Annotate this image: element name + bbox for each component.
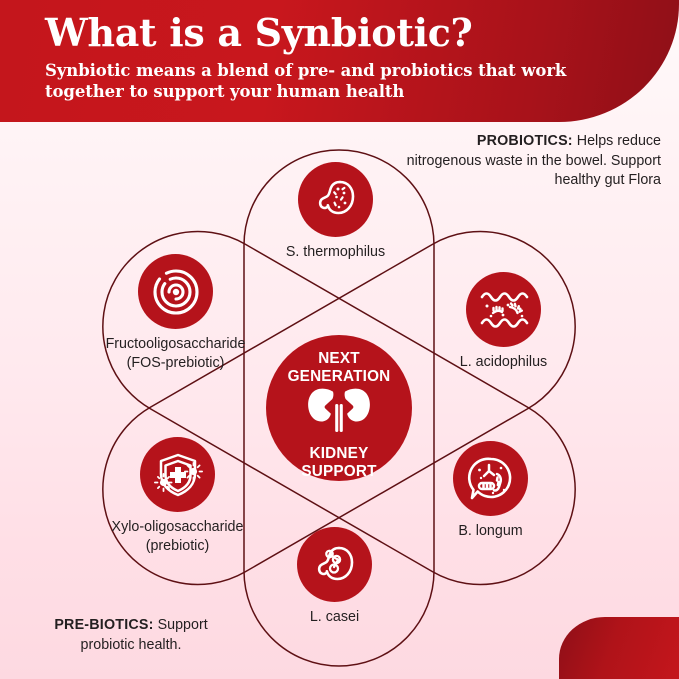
node-disc [297,527,372,602]
center-line-3: KIDNEY [301,445,376,463]
node-xylo-oligosaccharide[interactable]: Xylo-oligosaccharide (prebiotic) [140,437,215,512]
header-banner: What is a Synbiotic? Synbiotic means a b… [0,0,679,122]
node-s-thermophilus[interactable]: S. thermophilus [298,162,373,237]
node-fructooligosaccharide[interactable]: Fructooligosaccharide (FOS-prebiotic) [138,254,213,329]
node-disc [466,272,541,347]
node-disc [138,254,213,329]
center-line-4: SUPPORT [301,463,376,481]
prebiotics-caption-label: PRE-BIOTICS: [54,617,153,633]
center-line-2: GENERATION [288,368,391,386]
node-disc [298,162,373,237]
stomach-bacteria-icon [312,176,360,224]
node-label: Xylo-oligosaccharide (prebiotic) [112,518,244,556]
bubble-bacteria-icon [467,455,515,503]
center-line-1: NEXT [288,350,391,368]
infographic-page: What is a Synbiotic? Synbiotic means a b… [0,0,679,679]
node-b-longum[interactable]: B. longum [453,441,528,516]
page-subtitle: Synbiotic means a blend of pre- and prob… [45,60,605,102]
node-l-casei[interactable]: L. casei [297,527,372,602]
node-label-line2: (prebiotic) [112,537,244,556]
page-title: What is a Synbiotic? [45,10,473,55]
center-disc: NEXT GENERATION KIDNEY SUPPORT [266,335,412,481]
node-label-line2: (FOS-prebiotic) [106,354,246,373]
node-label: Fructooligosaccharide (FOS-prebiotic) [106,335,246,373]
prebiotics-caption: PRE-BIOTICS: Support probiotic health. [26,616,236,655]
node-label: B. longum [458,522,522,540]
node-l-acidophilus[interactable]: L. acidophilus [466,272,541,347]
kidney-icon [306,388,372,439]
node-label-line1: Xylo-oligosaccharide [112,518,244,537]
center-node-kidney-support[interactable]: NEXT GENERATION KIDNEY SUPPORT [266,335,412,481]
node-disc [453,441,528,516]
shield-plus-germ-icon [153,451,203,499]
concentric-rings-icon [151,267,201,317]
node-disc [140,437,215,512]
corner-decoration [559,617,679,679]
probiotics-caption: PROBIOTICS: Helps reduce nitrogenous was… [405,132,661,191]
stomach-molecule-icon [311,541,359,589]
node-label: L. acidophilus [460,353,547,371]
node-label: S. thermophilus [286,243,385,261]
probiotics-caption-label: PROBIOTICS: [477,133,573,149]
node-label: L. casei [310,608,359,626]
node-label-line1: Fructooligosaccharide [106,335,246,354]
waves-bacteria-icon [479,288,529,332]
